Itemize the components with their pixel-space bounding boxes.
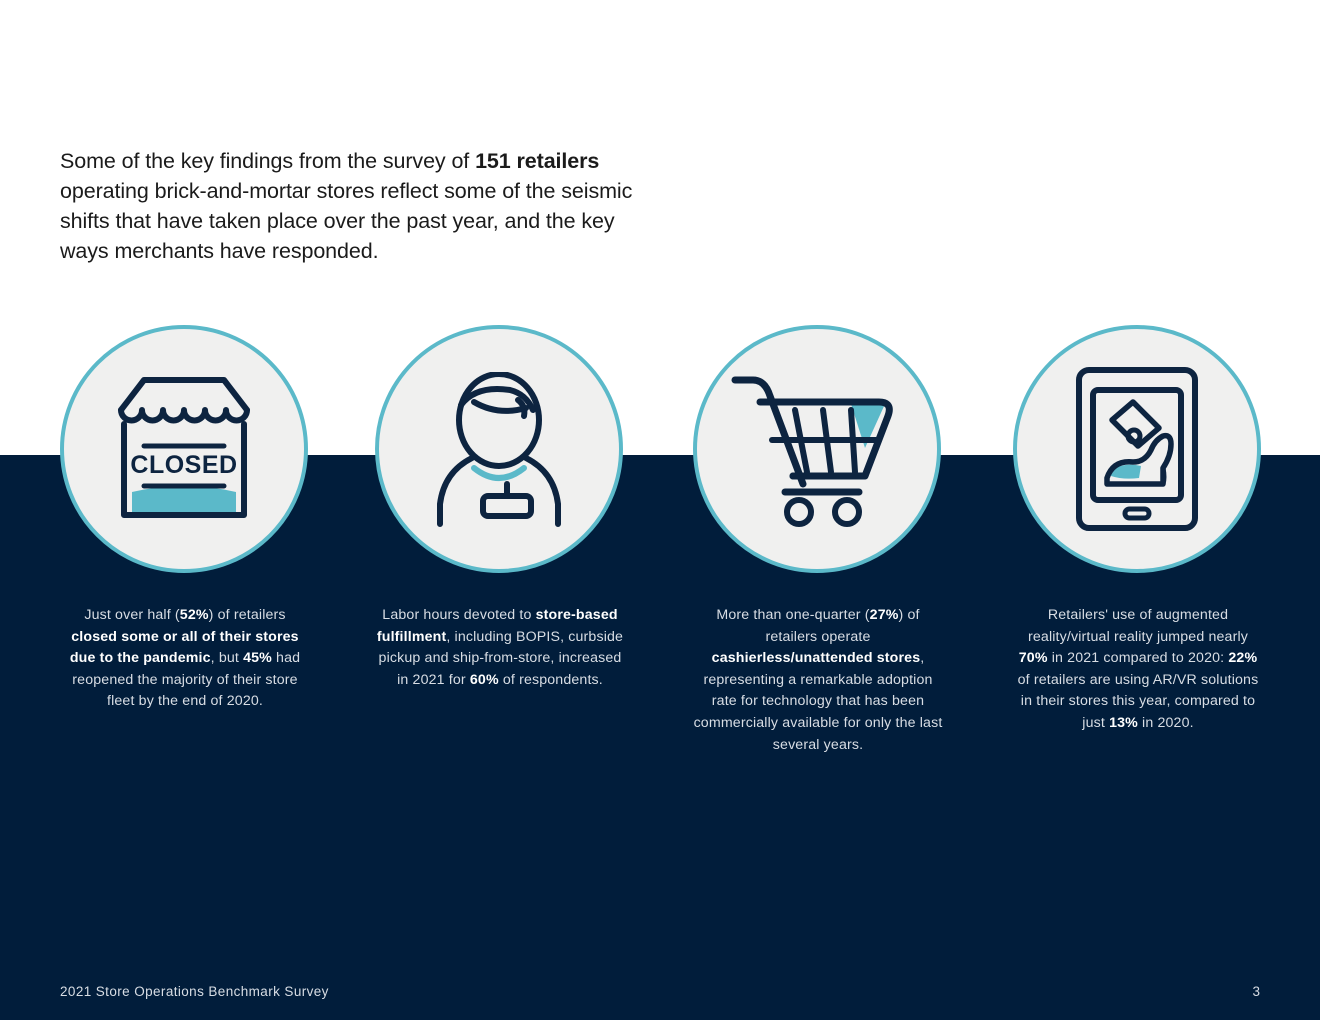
icon-circle-storefront-closed: CLOSED — [60, 325, 308, 573]
storefront-closed-label: CLOSED — [130, 451, 237, 479]
finding-column-3: More than one-quarter (27%) of retailers… — [693, 325, 943, 756]
icon-circle-shopping-cart — [693, 325, 941, 573]
finding-caption-2: Labor hours devoted to store-based fulfi… — [375, 605, 625, 691]
store-employee-icon — [414, 372, 584, 527]
intro-paragraph: Some of the key findings from the survey… — [60, 146, 660, 266]
shopping-cart-icon — [727, 372, 907, 527]
finding-caption-3: More than one-quarter (27%) of retailers… — [693, 605, 943, 756]
finding-column-1: CLOSED Just over half (52%) of retailers… — [60, 325, 310, 713]
finding-caption-1: Just over half (52%) of retailers closed… — [60, 605, 310, 713]
finding-column-2: Labor hours devoted to store-based fulfi… — [375, 325, 625, 691]
footer-page-number: 3 — [1252, 984, 1260, 999]
finding-caption-4: Retailers' use of augmented reality/virt… — [1013, 605, 1263, 735]
storefront-closed-icon: CLOSED — [99, 374, 269, 524]
page-root: Some of the key findings from the survey… — [0, 0, 1320, 1020]
footer-document-title: 2021 Store Operations Benchmark Survey — [60, 984, 329, 999]
finding-column-4: Retailers' use of augmented reality/virt… — [1013, 325, 1263, 735]
icon-circle-tablet-ar — [1013, 325, 1261, 573]
icon-circle-store-employee — [375, 325, 623, 573]
tablet-ar-shoe-icon — [1067, 364, 1207, 534]
